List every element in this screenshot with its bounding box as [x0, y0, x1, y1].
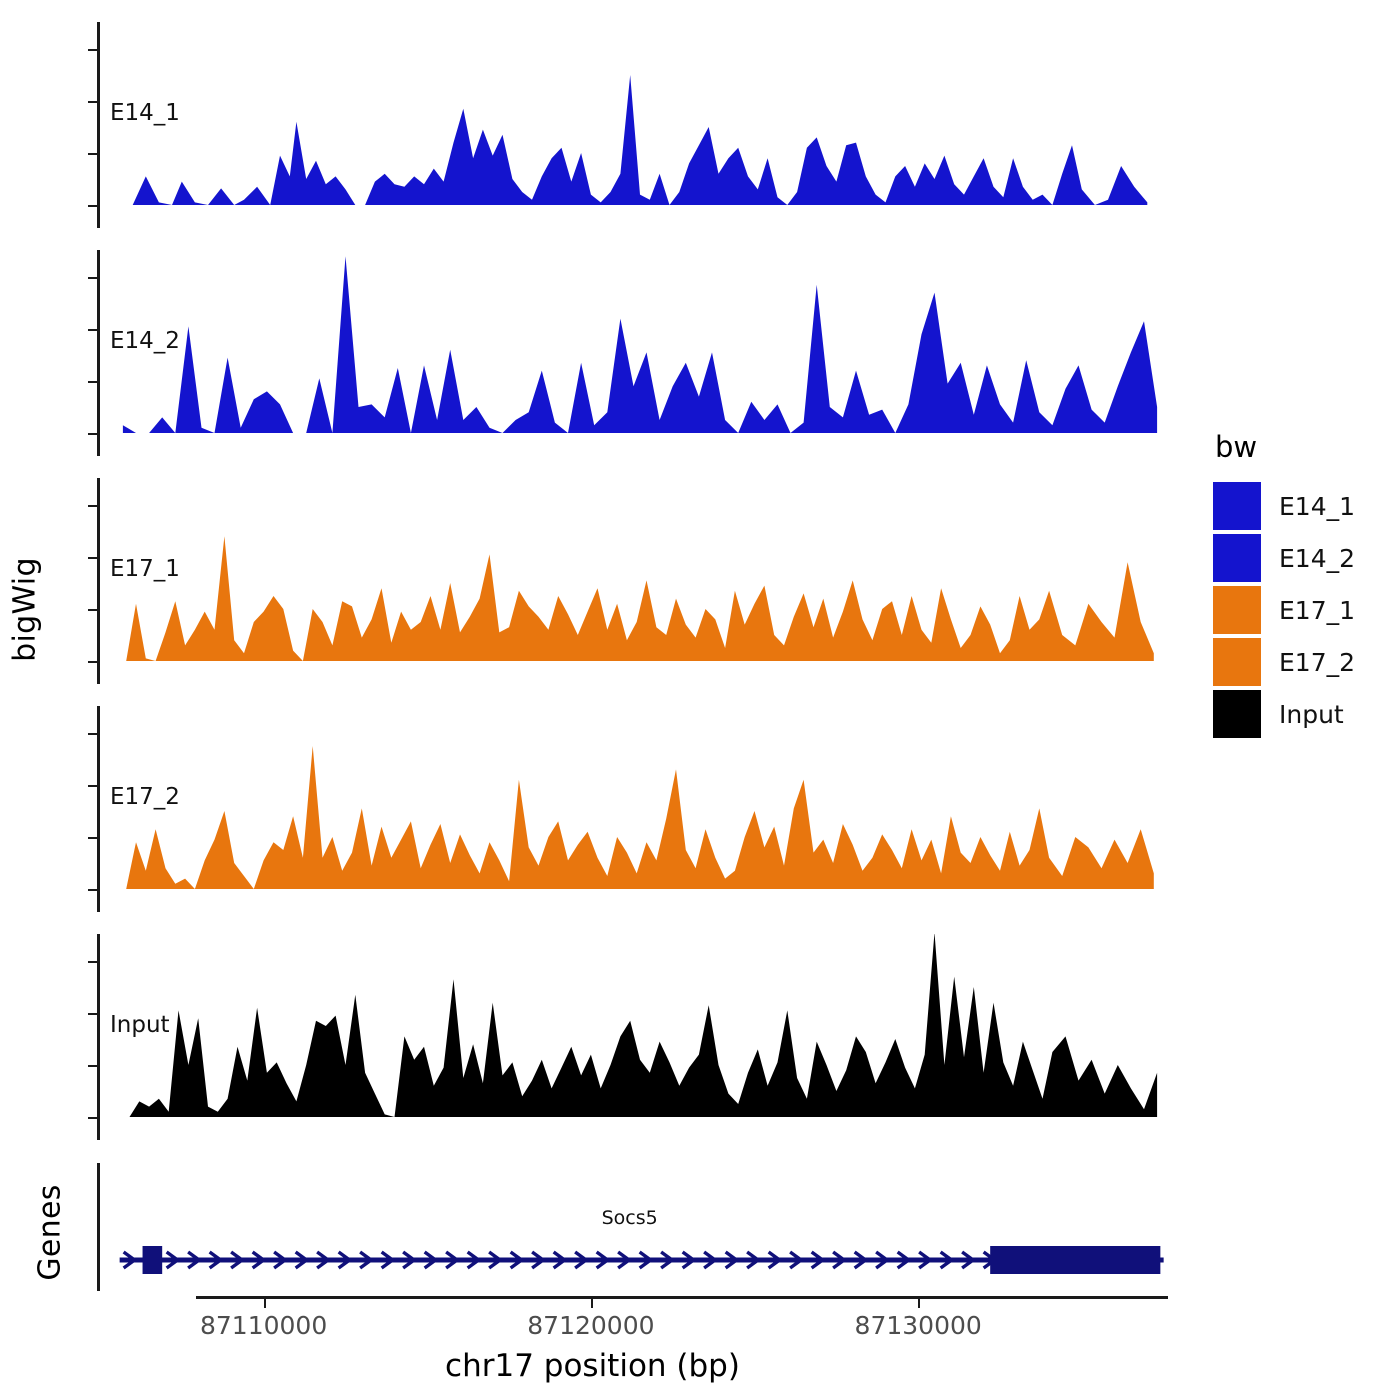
legend-swatch-icon: [1213, 638, 1261, 686]
y-tick: [88, 381, 97, 383]
track-panel-input: 0123Input: [0, 934, 1180, 1140]
y-tick: [88, 609, 97, 611]
legend-swatch-icon: [1213, 586, 1261, 634]
y-tick: [88, 505, 97, 507]
x-axis-title: chr17 position (bp): [0, 1348, 1185, 1384]
y-tick: [88, 557, 97, 559]
y-tick: [88, 837, 97, 839]
x-tick-label: 87130000: [828, 1311, 1008, 1340]
legend-item-container: E14_1E14_2E17_1E17_2Input: [1213, 480, 1393, 740]
legend-label: E17_1: [1279, 596, 1355, 625]
coverage-plot-area[interactable]: [100, 706, 1180, 912]
x-axis-line: [196, 1296, 1168, 1299]
y-tick: [88, 433, 97, 435]
legend-item-e14_2[interactable]: E14_2: [1213, 532, 1393, 584]
coverage-area: [123, 256, 1157, 433]
y-tick: [88, 733, 97, 735]
coverage-area: [130, 934, 1158, 1117]
gene-exon-2[interactable]: [990, 1246, 1160, 1274]
gene-exon-1[interactable]: [143, 1246, 163, 1274]
legend-label: E17_2: [1279, 648, 1355, 677]
coverage-plot-area[interactable]: [100, 250, 1180, 456]
coverage-area: [126, 536, 1154, 661]
coverage-plot-area[interactable]: [100, 478, 1180, 684]
x-axis: 871100008712000087130000 chr17 position …: [0, 1296, 1400, 1396]
x-tick: [918, 1299, 920, 1308]
legend-label: E14_1: [1279, 492, 1355, 521]
y-tick: [88, 153, 97, 155]
y-tick: [88, 1117, 97, 1119]
legend: bw E14_1E14_2E17_1E17_2Input: [1213, 430, 1393, 740]
legend-swatch-icon: [1213, 534, 1261, 582]
track-panel-e14_1: 0123E14_1: [0, 22, 1180, 228]
y-tick: [88, 889, 97, 891]
coverage-plot-area[interactable]: [100, 22, 1180, 228]
legend-label: E14_2: [1279, 544, 1355, 573]
x-tick-label: 87120000: [501, 1311, 681, 1340]
y-tick: [88, 101, 97, 103]
y-tick: [88, 205, 97, 207]
coverage-plot-area[interactable]: [100, 934, 1180, 1140]
y-tick: [88, 785, 97, 787]
y-tick: [88, 277, 97, 279]
track-panel-e17_1: 0123E17_1: [0, 478, 1180, 684]
legend-item-e17_2[interactable]: E17_2: [1213, 636, 1393, 688]
legend-item-e14_1[interactable]: E14_1: [1213, 480, 1393, 532]
y-tick: [88, 329, 97, 331]
x-tick: [591, 1299, 593, 1308]
y-tick: [88, 961, 97, 963]
y-tick: [88, 1065, 97, 1067]
coverage-area: [133, 75, 1148, 205]
legend-swatch-icon: [1213, 690, 1261, 738]
x-tick-label: 87110000: [174, 1311, 354, 1340]
y-tick: [88, 1013, 97, 1015]
legend-title: bw: [1215, 430, 1393, 464]
y-tick: [88, 661, 97, 663]
track-panel-e17_2: 0123E17_2: [0, 706, 1180, 912]
y-tick: [88, 49, 97, 51]
gene-plot-area[interactable]: [100, 1155, 1180, 1295]
legend-item-e17_1[interactable]: E17_1: [1213, 584, 1393, 636]
legend-item-input[interactable]: Input: [1213, 688, 1393, 740]
track-panel-e14_2: 0123E14_2: [0, 250, 1180, 456]
legend-swatch-icon: [1213, 482, 1261, 530]
coverage-area: [126, 746, 1154, 889]
legend-label: Input: [1279, 700, 1344, 729]
x-tick: [264, 1299, 266, 1308]
genes-panel: Socs5: [0, 1155, 1180, 1295]
